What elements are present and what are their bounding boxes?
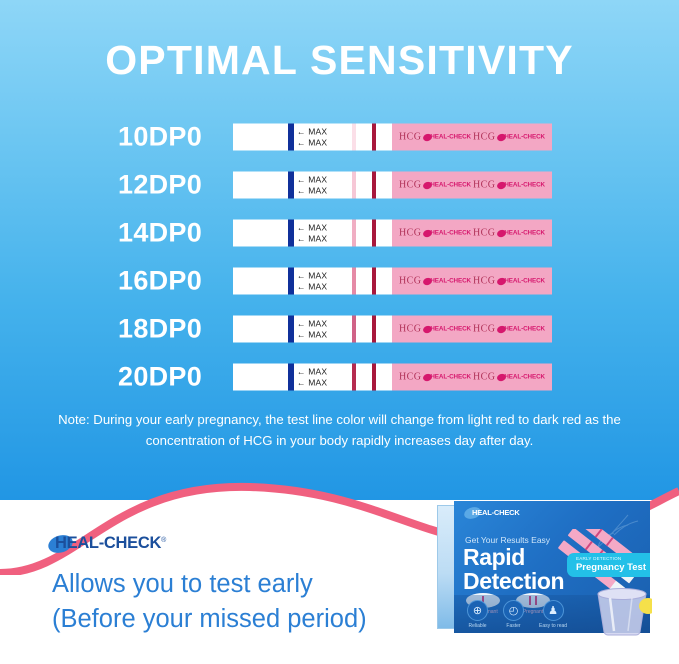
tagline-line-1: Allows you to test early — [52, 567, 367, 602]
shield-icon: ⊕ — [467, 600, 488, 621]
hcg-label: HCG — [473, 180, 495, 191]
strip-brand-label: HEAL-CHECK — [423, 278, 471, 285]
product-feature-label: Reliable — [467, 623, 488, 629]
strip-brand-label: HEAL-CHECK — [423, 374, 471, 381]
max-arrow-labels: ← MAX← MAX — [297, 268, 327, 295]
product-box-side-panel — [437, 505, 455, 629]
test-strip: ← MAX← MAXHCGHEAL-CHECKHCGHEAL-CHECK — [233, 316, 552, 343]
strip-row: 16DP0← MAX← MAXHCGHEAL-CHECKHCGHEAL-CHEC… — [0, 257, 679, 305]
strip-branding-area: HCGHEAL-CHECKHCGHEAL-CHECK — [392, 316, 552, 343]
strip-row-label: 12DP0 — [118, 170, 202, 201]
max-level-bar — [288, 268, 294, 295]
strip-row: 10DP0← MAX← MAXHCGHEAL-CHECKHCGHEAL-CHEC… — [0, 113, 679, 161]
control-line — [372, 124, 376, 151]
strip-brand-label: HEAL-CHECK — [423, 182, 471, 189]
early-detection-badge: EARLY DETECTION Pregnancy Test — [567, 553, 650, 577]
product-feature: ♟Easy to read — [539, 600, 567, 629]
badge-top-text: EARLY DETECTION — [576, 556, 646, 561]
test-line — [352, 220, 356, 247]
max-arrow-label: ← MAX — [297, 271, 327, 281]
footer-tagline: Allows you to test early (Before your mi… — [52, 567, 367, 637]
heal-check-logo-text: HEAL-CHECK — [55, 534, 161, 552]
test-line — [352, 364, 356, 391]
clock-icon: ◴ — [503, 600, 524, 621]
hcg-label: HCG — [473, 372, 495, 383]
max-arrow-label: ← MAX — [297, 378, 327, 388]
max-arrow-label: ← MAX — [297, 319, 327, 329]
strip-row: 12DP0← MAX← MAXHCGHEAL-CHECKHCGHEAL-CHEC… — [0, 161, 679, 209]
max-arrow-labels: ← MAX← MAX — [297, 124, 327, 151]
hcg-label: HCG — [399, 132, 421, 143]
hcg-label: HCG — [399, 180, 421, 191]
strip-brand-label: HEAL-CHECK — [423, 326, 471, 333]
strip-row-label: 20DP0 — [118, 362, 202, 393]
test-strip: ← MAX← MAXHCGHEAL-CHECKHCGHEAL-CHECK — [233, 220, 552, 247]
strip-brand-label: HEAL-CHECK — [423, 134, 471, 141]
strip-branding-area: HCGHEAL-CHECKHCGHEAL-CHECK — [392, 220, 552, 247]
strip-result-window: ← MAX← MAX — [233, 124, 392, 151]
hcg-label: HCG — [399, 276, 421, 287]
hcg-label: HCG — [473, 276, 495, 287]
strip-row: 14DP0← MAX← MAXHCGHEAL-CHECKHCGHEAL-CHEC… — [0, 209, 679, 257]
test-strip: ← MAX← MAXHCGHEAL-CHECKHCGHEAL-CHECK — [233, 124, 552, 151]
strip-row: 18DP0← MAX← MAXHCGHEAL-CHECKHCGHEAL-CHEC… — [0, 305, 679, 353]
test-line — [352, 268, 356, 295]
max-level-bar — [288, 316, 294, 343]
control-line — [372, 268, 376, 295]
max-arrow-label: ← MAX — [297, 367, 327, 377]
strip-brand-label: HEAL-CHECK — [423, 230, 471, 237]
hcg-label: HCG — [399, 324, 421, 335]
tagline-line-2: (Before your missed period) — [52, 602, 367, 637]
specimen-cup-icon — [592, 584, 652, 636]
control-line — [372, 220, 376, 247]
strip-brand-label: HEAL-CHECK — [497, 326, 545, 333]
strip-result-window: ← MAX← MAX — [233, 364, 392, 391]
heal-check-logo: HEAL-CHECK® — [52, 534, 166, 553]
note-line-1: Note: During your early pregnancy, the t… — [58, 412, 514, 427]
product-feature: ◴Faster — [503, 600, 524, 629]
test-line — [352, 124, 356, 151]
test-line — [352, 172, 356, 199]
strip-row: 20DP0← MAX← MAXHCGHEAL-CHECKHCGHEAL-CHEC… — [0, 353, 679, 401]
person-icon: ♟ — [543, 600, 564, 621]
strip-branding-area: HCGHEAL-CHECKHCGHEAL-CHECK — [392, 364, 552, 391]
strip-brand-label: HEAL-CHECK — [497, 134, 545, 141]
hcg-label: HCG — [473, 228, 495, 239]
max-arrow-label: ← MAX — [297, 223, 327, 233]
strip-branding-area: HCGHEAL-CHECKHCGHEAL-CHECK — [392, 124, 552, 151]
strip-row-label: 16DP0 — [118, 266, 202, 297]
product-feature-label: Faster — [503, 623, 524, 629]
max-arrow-label: ← MAX — [297, 175, 327, 185]
test-strip: ← MAX← MAXHCGHEAL-CHECKHCGHEAL-CHECK — [233, 268, 552, 295]
strip-brand-label: HEAL-CHECK — [497, 230, 545, 237]
strip-brand-label: HEAL-CHECK — [497, 182, 545, 189]
max-level-bar — [288, 364, 294, 391]
control-line — [372, 364, 376, 391]
max-arrow-label: ← MAX — [297, 282, 327, 292]
control-line — [372, 172, 376, 199]
max-arrow-label: ← MAX — [297, 138, 327, 148]
strip-row-label: 10DP0 — [118, 122, 202, 153]
max-arrow-labels: ← MAX← MAX — [297, 172, 327, 199]
page-title: OPTIMAL SENSITIVITY — [0, 37, 679, 84]
max-arrow-label: ← MAX — [297, 186, 327, 196]
product-box-logo-text: HEAL-CHECK — [472, 508, 520, 517]
product-box-image: HEAL-CHECK Get Your Results Easy Rapid D… — [437, 501, 650, 633]
hcg-label: HCG — [473, 132, 495, 143]
max-level-bar — [288, 124, 294, 151]
test-line — [352, 316, 356, 343]
max-arrow-labels: ← MAX← MAX — [297, 316, 327, 343]
strip-row-label: 18DP0 — [118, 314, 202, 345]
strip-branding-area: HCGHEAL-CHECKHCGHEAL-CHECK — [392, 268, 552, 295]
product-feature-label: Easy to read — [539, 623, 567, 629]
strip-row-label: 14DP0 — [118, 218, 202, 249]
max-level-bar — [288, 220, 294, 247]
product-box-logo: HEAL-CHECK — [468, 508, 520, 517]
strip-result-window: ← MAX← MAX — [233, 316, 392, 343]
hcg-label: HCG — [399, 228, 421, 239]
max-arrow-label: ← MAX — [297, 330, 327, 340]
test-strip: ← MAX← MAXHCGHEAL-CHECKHCGHEAL-CHECK — [233, 172, 552, 199]
strip-brand-label: HEAL-CHECK — [497, 278, 545, 285]
control-line — [372, 316, 376, 343]
strip-branding-area: HCGHEAL-CHECKHCGHEAL-CHECK — [392, 172, 552, 199]
strip-brand-label: HEAL-CHECK — [497, 374, 545, 381]
footer-brand-logo: HEAL-CHECK® — [52, 534, 166, 553]
max-arrow-label: ← MAX — [297, 127, 327, 137]
test-strip: ← MAX← MAXHCGHEAL-CHECKHCGHEAL-CHECK — [233, 364, 552, 391]
hcg-label: HCG — [399, 372, 421, 383]
strip-result-window: ← MAX← MAX — [233, 172, 392, 199]
strip-result-window: ← MAX← MAX — [233, 268, 392, 295]
max-arrow-label: ← MAX — [297, 234, 327, 244]
max-arrow-labels: ← MAX← MAX — [297, 220, 327, 247]
product-feature: ⊕Reliable — [467, 600, 488, 629]
strip-result-window: ← MAX← MAX — [233, 220, 392, 247]
note-text: Note: During your early pregnancy, the t… — [0, 409, 679, 451]
badge-main-text: Pregnancy Test — [576, 562, 646, 573]
max-arrow-labels: ← MAX← MAX — [297, 364, 327, 391]
hcg-label: HCG — [473, 324, 495, 335]
sensitivity-strip-chart: 10DP0← MAX← MAXHCGHEAL-CHECKHCGHEAL-CHEC… — [0, 113, 679, 401]
registered-mark: ® — [161, 537, 166, 544]
max-level-bar — [288, 172, 294, 199]
